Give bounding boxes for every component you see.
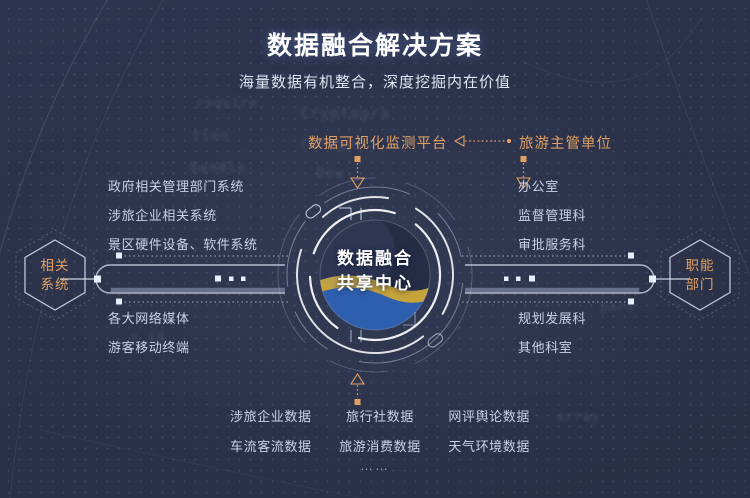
list-item[interactable]: 政府相关管理部门系统 (108, 176, 258, 195)
center-line1: 数据融合 (275, 246, 475, 271)
grid-cell[interactable]: 旅行社数据 (346, 406, 414, 425)
list-right-top: 办公室 监督管理科 审批服务科 (518, 176, 586, 263)
grid-cell[interactable]: 涉旅企业数据 (230, 406, 312, 425)
label-visualization-platform[interactable]: 数据可视化监测平台 (308, 132, 448, 153)
grid-cell[interactable]: 天气环境数据 (448, 436, 530, 455)
list-right-bottom: 规划发展科 其他科室 (518, 308, 586, 366)
infographic-canvas: require Cryptogra tion Categor Bundle: D… (0, 0, 750, 498)
list-item[interactable]: 游客移动终端 (108, 337, 190, 356)
page-subtitle: 海量数据有机整合，深度挖掘内在价值 (0, 71, 750, 92)
grid-cell[interactable]: 车流客流数据 (230, 436, 312, 455)
table-row: 车流客流数据 旅游消费数据 天气环境数据 (230, 436, 530, 455)
list-item[interactable]: 规划发展科 (518, 308, 586, 327)
bottom-ellipsis: …… (0, 458, 750, 473)
hex-right-line2: 部门 (686, 275, 715, 294)
list-item[interactable]: 景区硬件设备、软件系统 (108, 234, 258, 253)
list-item[interactable]: 办公室 (518, 176, 586, 195)
hex-left-line1: 相关 (41, 256, 70, 275)
list-item[interactable]: 涉旅企业相关系统 (108, 205, 258, 224)
list-left-top: 政府相关管理部门系统 涉旅企业相关系统 景区硬件设备、软件系统 (108, 176, 258, 263)
table-row: 涉旅企业数据 旅行社数据 网评舆论数据 (230, 406, 530, 425)
grid-cell[interactable]: 旅游消费数据 (339, 436, 421, 455)
list-item[interactable]: 监督管理科 (518, 205, 586, 224)
hex-badge-functional-departments[interactable]: 职能 部门 (657, 227, 743, 323)
label-tourism-authority[interactable]: 旅游主管单位 (519, 132, 612, 153)
decor-code-text: tion (192, 128, 230, 144)
bottom-data-grid: 涉旅企业数据 旅行社数据 网评舆论数据 车流客流数据 旅游消费数据 天气环境数据 (230, 406, 530, 466)
hex-badge-related-systems[interactable]: 相关 系统 (12, 227, 98, 323)
decor-code-text: require (196, 96, 258, 111)
list-left-bottom: 各大网络媒体 游客移动终端 (108, 308, 190, 366)
decor-code-text: Cryptogra (300, 104, 390, 122)
center-line2: 共享中心 (275, 271, 475, 296)
list-item[interactable]: 其他科室 (518, 337, 586, 356)
dotted-arrow-icon (448, 132, 514, 150)
list-item[interactable]: 审批服务科 (518, 234, 586, 253)
center-hub[interactable]: 数据融合 共享中心 (275, 160, 475, 390)
decor-code-text: pars (600, 300, 635, 315)
hex-left-line2: 系统 (41, 275, 70, 294)
center-hub-label: 数据融合 共享中心 (275, 246, 475, 296)
decor-code-text: Bundle: (190, 160, 256, 176)
page-title: 数据融合解决方案 (0, 26, 750, 62)
hex-right-line1: 职能 (686, 256, 715, 275)
list-item[interactable]: 各大网络媒体 (108, 308, 190, 327)
decor-code-text: array (556, 410, 600, 425)
grid-cell[interactable]: 网评舆论数据 (448, 406, 530, 425)
